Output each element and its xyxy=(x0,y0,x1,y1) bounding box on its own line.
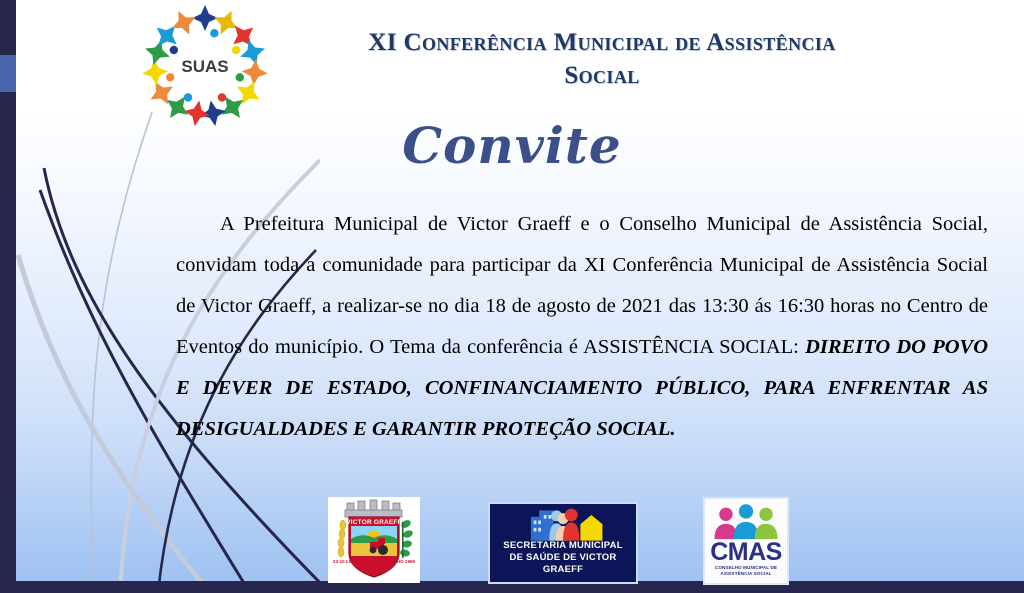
page-title-line1: XI Conferência Municipal de Assistência xyxy=(252,26,952,59)
cmas-logo: CMAS CONSELHO MUNICIPAL DE ASSISTÊNCIA S… xyxy=(703,497,789,585)
theme-prefix: ASSISTÊNCIA SOCIAL: xyxy=(583,336,805,358)
invitation-body-text: A Prefeitura Municipal de Victor Graeff … xyxy=(176,204,988,450)
cmas-subtitle-line2: ASSISTÊNCIA SOCIAL xyxy=(705,571,787,577)
cmas-acronym: CMAS xyxy=(705,540,787,565)
invitation-slide: SUAS XI Conferência Municipal de Assistê… xyxy=(0,0,1024,593)
footer-logo-row: VICTOR GRAEFF 23-10 LIBERDADE E TRABALHO… xyxy=(0,497,1024,585)
secretaria-saude-line2: DE SAÚDE DE VICTOR GRAEFF xyxy=(490,552,636,576)
invitation-headline: Convite xyxy=(0,116,1024,175)
cmas-subtitle: CONSELHO MUNICIPAL DE ASSISTÊNCIA SOCIAL xyxy=(705,565,787,577)
coat-of-arms-city-name: VICTOR GRAEFF xyxy=(328,519,420,526)
page-title: XI Conferência Municipal de Assistência … xyxy=(252,26,952,92)
secretaria-saude-line1: SECRETARIA MUNICIPAL xyxy=(490,540,636,552)
victor-graeff-coat-of-arms-logo: VICTOR GRAEFF 23-10 LIBERDADE E TRABALHO… xyxy=(328,497,420,583)
suas-logo-icon: SUAS xyxy=(142,4,268,132)
page-title-line2: Social xyxy=(252,59,952,92)
coat-of-arms-motto: 23-10 LIBERDADE E TRABALHO 1965 xyxy=(328,559,420,564)
secretaria-saude-caption: SECRETARIA MUNICIPAL DE SAÚDE DE VICTOR … xyxy=(490,540,636,576)
suas-logo-label: SUAS xyxy=(181,57,228,76)
secretaria-saude-logo: SECRETARIA MUNICIPAL DE SAÚDE DE VICTOR … xyxy=(488,502,638,584)
